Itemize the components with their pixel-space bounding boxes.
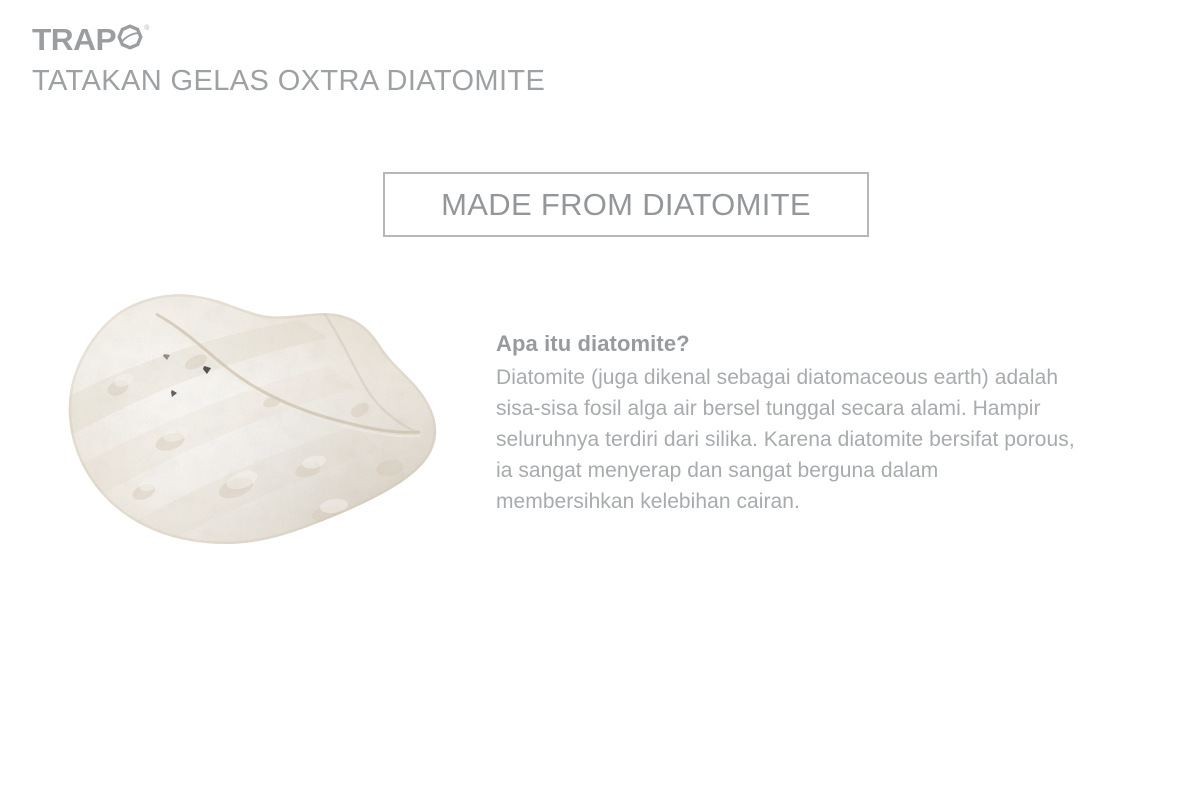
diatomite-rock-image	[60, 292, 452, 570]
made-from-diatomite-banner: MADE FROM DIATOMITE	[383, 172, 869, 237]
page-title: TATAKAN GELAS OXTRA DIATOMITE	[32, 65, 832, 97]
page-header: TRAP ® TATAKAN GELAS OXTRA DIATOMITE	[32, 24, 832, 97]
description-block: Apa itu diatomite? Diatomite (juga diken…	[496, 330, 1176, 517]
description-body: Diatomite (juga dikenal sebagai diatomac…	[496, 362, 1176, 517]
registered-trademark-icon: ®	[144, 25, 149, 32]
brand-logo[interactable]: TRAP ®	[32, 24, 832, 58]
trapo-swoosh-o-icon: ®	[115, 24, 145, 55]
banner-label: MADE FROM DIATOMITE	[441, 188, 811, 222]
description-heading: Apa itu diatomite?	[496, 330, 1176, 358]
logo-wordmark: TRAP	[32, 24, 116, 55]
